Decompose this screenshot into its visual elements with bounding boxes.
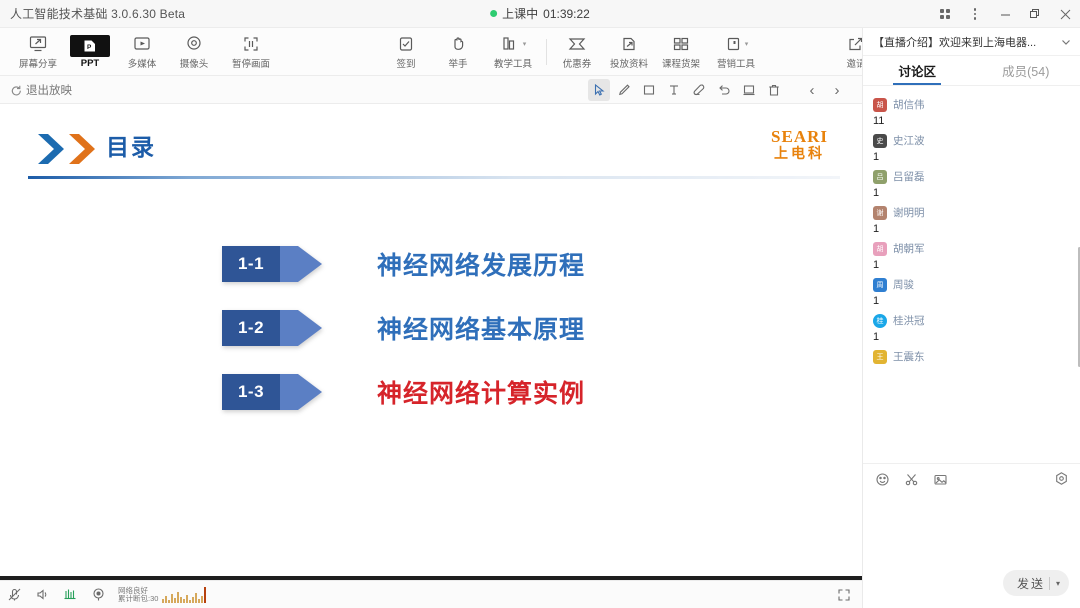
avatar: 桂 (873, 314, 887, 328)
toolbar-label-marketing-tools: 营销工具 (717, 56, 755, 70)
chat-message-input[interactable] (863, 494, 1080, 564)
undo-tool[interactable] (713, 79, 735, 101)
toolbar-label-pause-frame: 暂停画面 (232, 56, 270, 70)
network-sparkline (162, 587, 206, 603)
logo-en-text: SEARI (771, 128, 828, 146)
app-title: 人工智能技术基础 3.0.6.30 Beta (0, 5, 185, 22)
next-slide-button[interactable]: › (826, 79, 848, 101)
toolbar-item-multimedia[interactable]: 多媒体 (116, 29, 168, 75)
logo-cn-text: 上电科 (771, 146, 828, 161)
pen-tool[interactable] (613, 79, 635, 101)
toolbar-item-screen-share[interactable]: 屏幕分享 (12, 29, 64, 75)
list-item: 胡 胡朝军 1 (863, 237, 1080, 273)
chat-input-tools (863, 464, 1080, 494)
fullscreen-icon[interactable] (834, 585, 854, 605)
more-vertical-icon[interactable] (960, 0, 990, 28)
message-text: 1 (873, 295, 1071, 307)
annotation-tools: ‹ › (588, 76, 848, 104)
live-timer: 01:39:22 (543, 7, 590, 21)
live-status-label: 上课中 (502, 5, 538, 22)
message-text: 1 (873, 331, 1071, 343)
svg-text:P: P (87, 44, 92, 51)
list-item: 桂 桂洪冠 1 (863, 309, 1080, 345)
message-author: 史江波 (893, 133, 925, 148)
avatar: 吕 (873, 170, 887, 184)
avatar: 周 (873, 278, 887, 292)
toc-item[interactable]: 1-1 神经网络发展历程 (222, 244, 585, 284)
teaching-tools-icon: ▾ (500, 34, 527, 54)
toc-item[interactable]: 1-2 神经网络基本原理 (222, 308, 585, 348)
toc-list: 1-1 神经网络发展历程 1-2 神经网络基本原理 1-3 (222, 244, 585, 436)
microphone-muted-icon[interactable] (0, 582, 28, 608)
avatar: 谢 (873, 206, 887, 220)
message-author: 桂洪冠 (893, 313, 925, 328)
toc-number: 1-2 (222, 310, 280, 346)
chevron-blue-icon (36, 132, 66, 166)
next-slide-label: › (835, 82, 840, 99)
toolbar-label-ppt: PPT (81, 58, 99, 69)
message-text: 1 (873, 151, 1071, 163)
live-status-dot (490, 10, 497, 17)
send-options-caret[interactable]: ▾ (1056, 579, 1065, 588)
list-item: 史 史江波 1 (863, 129, 1080, 165)
chat-message-list[interactable]: 胡 胡信伟 11 史 史江波 1 吕 吕留磊 1 谢 谢明明 1 胡 (863, 87, 1080, 457)
message-text: 11 (873, 115, 1071, 127)
chat-notice-text: 【直播介绍】欢迎来到上海电器... (873, 34, 1036, 50)
message-author: 胡信伟 (893, 97, 925, 112)
rectangle-tool[interactable] (638, 79, 660, 101)
tab-members[interactable]: 成员(54) (972, 56, 1080, 85)
text-tool[interactable] (663, 79, 685, 101)
delete-all-tool[interactable] (763, 79, 785, 101)
exit-presentation-icon (10, 84, 22, 96)
check-in-icon (397, 34, 415, 54)
toolbar-item-coupon[interactable]: 优惠券 (551, 29, 603, 75)
toc-label: 神经网络发展历程 (377, 246, 585, 282)
toolbar-item-camera[interactable]: 摄像头 (168, 29, 220, 75)
slide-title: 目录 (106, 128, 156, 162)
list-item: 吕 吕留磊 1 (863, 165, 1080, 201)
camera-icon (184, 34, 204, 54)
chat-tabs: 讨论区 成员(54) (863, 56, 1080, 86)
message-author: 吕留磊 (893, 169, 925, 184)
toc-arrow-shape: 1-1 (222, 246, 322, 282)
minimize-icon[interactable] (990, 0, 1020, 28)
toolbar-item-check-in[interactable]: 签到 (380, 29, 432, 75)
live-class-app: 人工智能技术基础 3.0.6.30 Beta 上课中 01:39:22 (0, 0, 1080, 608)
message-author: 谢明明 (893, 205, 925, 220)
toolbar-label-coupon: 优惠券 (563, 56, 592, 70)
message-author: 周骏 (893, 277, 914, 292)
laser-pointer-tool[interactable] (738, 79, 760, 101)
ppt-icon: P (70, 36, 110, 56)
tab-members-label: 成员(54) (1002, 61, 1049, 80)
message-text: 1 (873, 259, 1071, 271)
toc-label: 神经网络计算实例 (377, 374, 585, 410)
annotation-toolbar: 退出放映 (0, 76, 862, 104)
prev-slide-label: ‹ (810, 82, 815, 99)
avatar: 胡 (873, 98, 887, 112)
image-upload-icon[interactable] (933, 472, 948, 487)
toolbar-label-push-material: 投放资料 (610, 56, 648, 70)
network-status: 网络良好 累计断包:30 (118, 587, 158, 603)
avatar: 王 (873, 350, 887, 364)
emoji-icon[interactable] (875, 472, 890, 487)
toc-number: 1-1 (222, 246, 280, 282)
toolbar-divider (546, 39, 547, 65)
chevron-decoration (36, 132, 97, 166)
prev-slide-button[interactable]: ‹ (801, 79, 823, 101)
raise-hand-icon (449, 34, 467, 54)
window-controls (930, 0, 1080, 28)
toolbar-item-ppt[interactable]: P PPT (64, 29, 116, 75)
toolbar-left-group: 屏幕分享 P PPT (12, 28, 282, 76)
exit-presentation-button[interactable]: 退出放映 (0, 82, 72, 98)
message-text: 1 (873, 223, 1071, 235)
close-icon[interactable] (1050, 0, 1080, 28)
speaker-icon[interactable] (28, 582, 56, 608)
toc-item[interactable]: 1-3 神经网络计算实例 (222, 372, 585, 412)
send-button[interactable]: 发送 ▾ (1003, 570, 1069, 596)
chevron-down-icon[interactable] (1060, 36, 1072, 48)
location-icon[interactable] (84, 582, 112, 608)
header-rule (28, 176, 840, 179)
chat-panel: 【直播介绍】欢迎来到上海电器... 讨论区 成员(54) 胡 胡信伟 11 (862, 28, 1080, 608)
list-item: 胡 胡信伟 11 (863, 93, 1080, 129)
toc-label: 神经网络基本原理 (377, 310, 585, 346)
list-item: 王 王震东 (863, 345, 1080, 369)
toolbar-item-push-material[interactable]: 投放资料 (603, 29, 655, 75)
multimedia-icon (132, 34, 152, 54)
slide-status-bar: 网络良好 累计断包:30 (0, 580, 862, 608)
cursor-tool[interactable] (588, 79, 610, 101)
restore-icon[interactable] (1020, 0, 1050, 28)
push-material-icon (620, 34, 638, 54)
toc-arrow-shape: 1-2 (222, 310, 322, 346)
slide-canvas[interactable]: 目录 SEARI 上电科 1-1 神经网络发展历程 (0, 104, 862, 576)
toolbar-label-camera: 摄像头 (180, 56, 209, 70)
slide-stage[interactable]: 目录 SEARI 上电科 1-1 神经网络发展历程 (0, 104, 862, 580)
tab-discussion-label: 讨论区 (898, 61, 936, 80)
send-button-label: 发送 (1017, 575, 1045, 592)
toc-number: 1-3 (222, 374, 280, 410)
chevron-orange-icon (67, 132, 97, 166)
toc-arrow-shape: 1-3 (222, 374, 322, 410)
eraser-tool[interactable] (688, 79, 710, 101)
toolbar-item-pause-frame[interactable]: 暂停画面 (220, 29, 282, 75)
screen-share-icon (28, 34, 48, 54)
pause-frame-icon (241, 34, 261, 54)
tab-discussion[interactable]: 讨论区 (863, 56, 972, 85)
chat-input-area: 发送 ▾ (863, 463, 1080, 608)
chat-settings-icon[interactable] (1054, 471, 1069, 486)
live-status: 上课中 01:39:22 (490, 5, 590, 22)
toolbar-center-group: 签到 举手 ▾ 教学工具 (380, 28, 765, 76)
list-item: 周 周骏 1 (863, 273, 1080, 309)
toolbar-label-teaching-tools: 教学工具 (494, 56, 532, 70)
audio-levels-icon[interactable] (56, 582, 84, 608)
chat-notice-bar[interactable]: 【直播介绍】欢迎来到上海电器... (863, 28, 1080, 56)
toolbar-label-raise-hand: 举手 (448, 56, 467, 70)
toolbar-item-teaching-tools[interactable]: ▾ 教学工具 (484, 29, 542, 75)
packet-loss-label: 累计断包:30 (118, 595, 158, 603)
course-shelf-icon (671, 34, 691, 54)
avatar: 史 (873, 134, 887, 148)
coupon-icon (567, 34, 587, 54)
toolbar-label-multimedia: 多媒体 (128, 56, 157, 70)
toolbar-label-screen-share: 屏幕分享 (19, 56, 57, 70)
screenshot-scissors-icon[interactable] (904, 472, 919, 487)
toolbar-item-marketing-tools[interactable]: ▾ 营销工具 (707, 29, 765, 75)
message-author: 胡朝军 (893, 241, 925, 256)
seari-logo: SEARI 上电科 (771, 128, 828, 161)
toolbar-item-raise-hand[interactable]: 举手 (432, 29, 484, 75)
toolbar-label-course-shelf: 课程货架 (662, 56, 700, 70)
title-bar: 人工智能技术基础 3.0.6.30 Beta 上课中 01:39:22 (0, 0, 1080, 28)
toolbar-item-course-shelf[interactable]: 课程货架 (655, 29, 707, 75)
message-author: 王震东 (893, 349, 925, 364)
exit-presentation-label: 退出放映 (26, 82, 72, 98)
avatar: 胡 (873, 242, 887, 256)
toolbar-label-check-in: 签到 (396, 56, 415, 70)
apps-grid-icon[interactable] (930, 0, 960, 28)
list-item: 谢 谢明明 1 (863, 201, 1080, 237)
send-control: 发送 ▾ (1003, 570, 1069, 596)
message-text: 1 (873, 187, 1071, 199)
slide-header: 目录 SEARI 上电科 (28, 126, 840, 178)
marketing-tools-icon: ▾ (724, 34, 749, 54)
